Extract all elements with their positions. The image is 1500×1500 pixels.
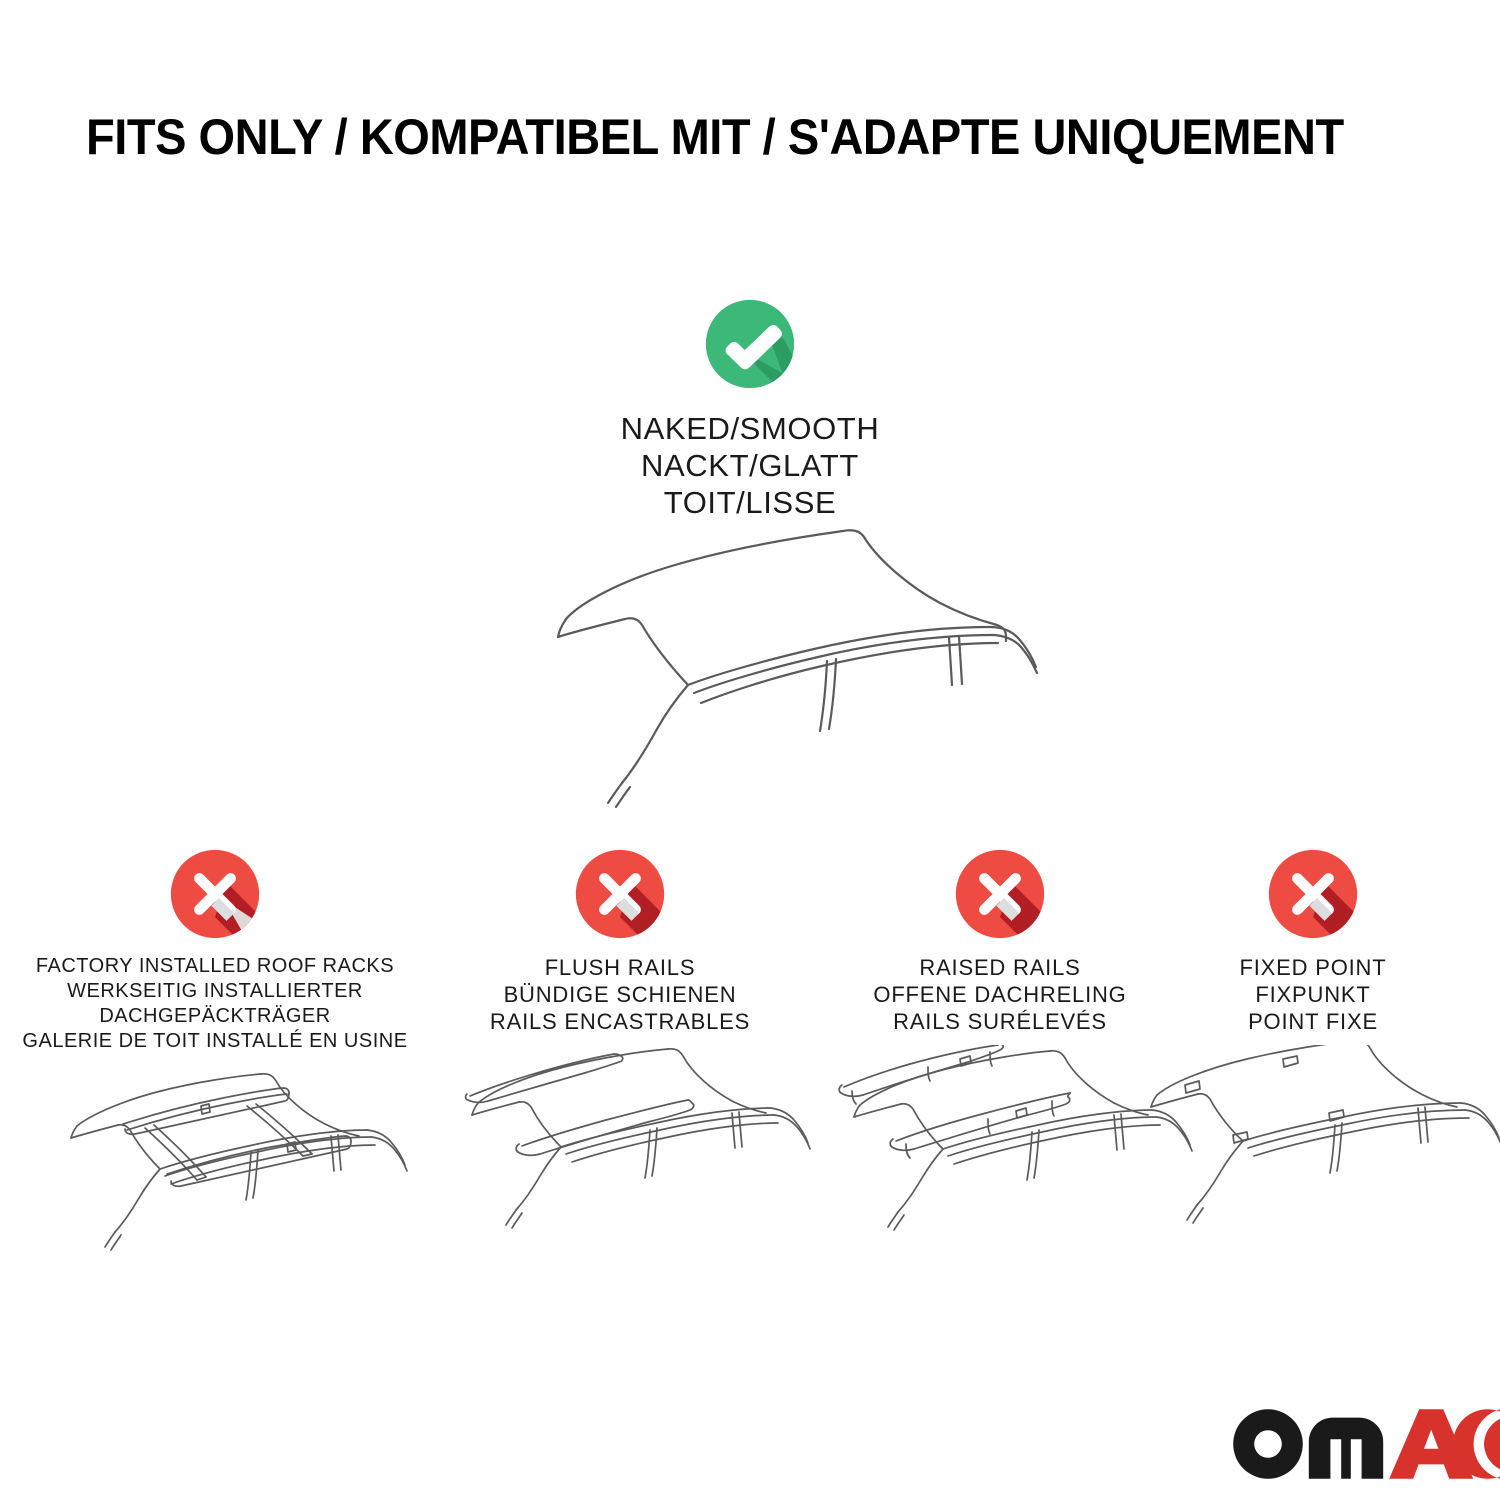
label-line-2: FIXPUNKT	[1113, 981, 1500, 1008]
label-line-2: BÜNDIGE SCHIENEN	[420, 981, 820, 1008]
not-fits-label-flush-rails: FLUSH RAILS BÜNDIGE SCHIENEN RAILS ENCAS…	[420, 954, 820, 1035]
flush-rails-illustration	[420, 1045, 820, 1240]
check-circle-icon	[702, 296, 798, 392]
not-fits-item-factory-racks: FACTORY INSTALLED ROOF RACKS WERKSEITIG …	[15, 846, 415, 1259]
not-fits-item-fixed-point: FIXED POINT FIXPUNKT POINT FIXE	[1113, 846, 1500, 1240]
logo-letter-m	[1309, 1418, 1383, 1479]
fits-section: NAKED/SMOOTH NACKT/GLATT TOIT/LISSE	[430, 296, 1070, 521]
omac-logo	[1232, 1408, 1500, 1480]
fixed-point-illustration	[1113, 1045, 1500, 1240]
factory-installed-roof-racks-illustration	[15, 1064, 415, 1259]
page-title: FITS ONLY / KOMPATIBEL MIT / S'ADAPTE UN…	[86, 108, 1346, 166]
label-line-3: RAILS ENCASTRABLES	[420, 1008, 820, 1035]
label-line-1: FIXED POINT	[1113, 954, 1500, 981]
fits-label-line-1: NAKED/SMOOTH	[430, 410, 1070, 447]
fits-label-line-2: NACKT/GLATT	[430, 447, 1070, 484]
x-circle-icon	[572, 846, 668, 942]
fits-label: NAKED/SMOOTH NACKT/GLATT TOIT/LISSE	[430, 410, 1070, 521]
label-line-3: DACHGEPÄCKTRÄGER	[15, 1004, 415, 1029]
label-line-2: WERKSEITIG INSTALLIERTER	[15, 979, 415, 1004]
not-fits-label-factory-racks: FACTORY INSTALLED ROOF RACKS WERKSEITIG …	[15, 954, 415, 1054]
x-circle-icon	[1265, 846, 1361, 942]
label-line-1: FACTORY INSTALLED ROOF RACKS	[15, 954, 415, 979]
naked-smooth-roof-illustration	[470, 515, 1070, 815]
x-circle-icon	[167, 846, 263, 942]
x-circle-icon	[952, 846, 1048, 942]
label-line-1: FLUSH RAILS	[420, 954, 820, 981]
label-line-4: GALERIE DE TOIT INSTALLÉ EN USINE	[15, 1029, 415, 1054]
not-compatible-row: FACTORY INSTALLED ROOF RACKS WERKSEITIG …	[0, 846, 1500, 1296]
not-fits-item-flush-rails: FLUSH RAILS BÜNDIGE SCHIENEN RAILS ENCAS…	[420, 846, 820, 1240]
label-line-3: POINT FIXE	[1113, 1008, 1500, 1035]
logo-letter-o	[1233, 1409, 1303, 1479]
not-fits-label-fixed-point: FIXED POINT FIXPUNKT POINT FIXE	[1113, 954, 1500, 1035]
compatibility-infographic: FITS ONLY / KOMPATIBEL MIT / S'ADAPTE UN…	[0, 0, 1500, 1500]
